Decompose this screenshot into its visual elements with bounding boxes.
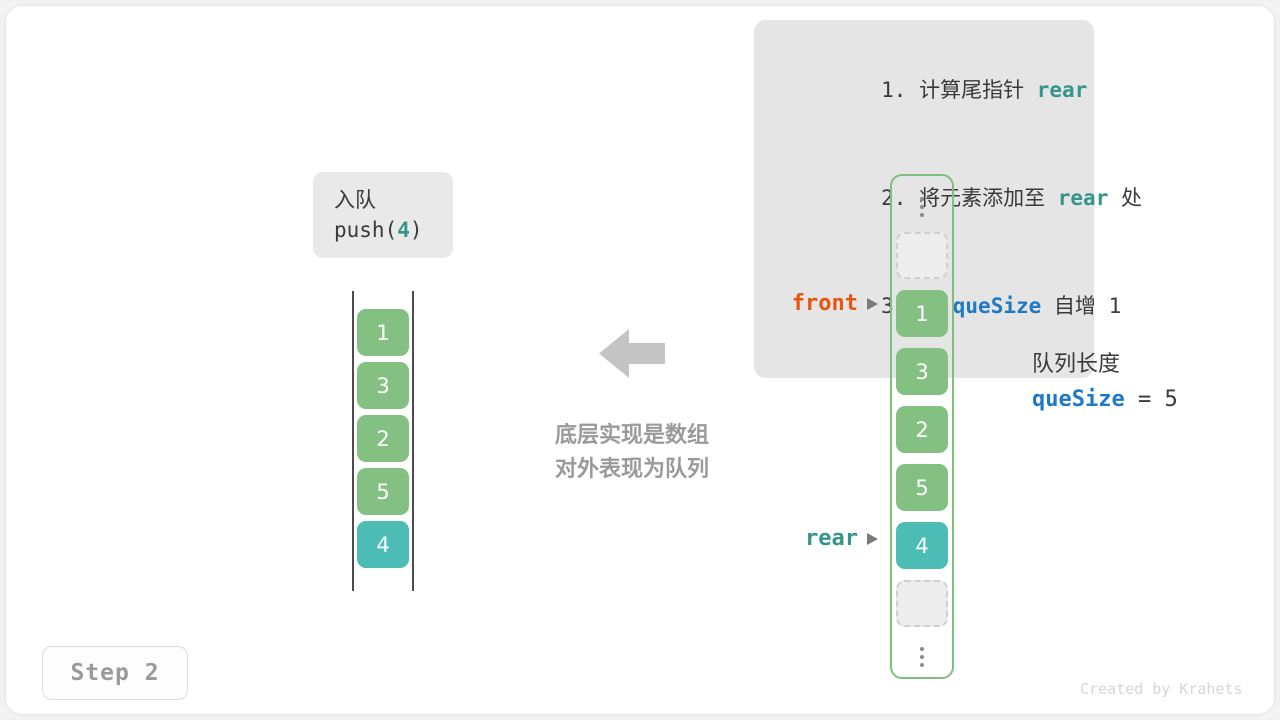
instruction-3-keyword: queSize: [953, 294, 1042, 318]
ellipsis-dot: [920, 197, 924, 201]
vertical-ellipsis-icon-bottom: [896, 638, 948, 676]
ellipsis-dot: [920, 647, 924, 651]
queue-rail-right: [412, 291, 414, 591]
instruction-2-suffix: 处: [1108, 186, 1142, 210]
queue-cell: 1: [357, 309, 409, 356]
queue-size-title: 队列长度: [1032, 347, 1262, 382]
operation-title: 入队: [334, 185, 453, 215]
explanation-caption: 底层实现是数组 对外表现为队列: [534, 419, 730, 487]
queue-view: 1 3 2 5 4: [352, 291, 414, 591]
array-cell-new: 4: [896, 522, 948, 569]
queue-size-equals: =: [1125, 387, 1165, 412]
queue-size-note: 队列长度 queSize = 5: [1032, 347, 1262, 417]
queue-cell: 3: [357, 362, 409, 409]
diagram-card: 1. 计算尾指针 rear 2. 将元素添加至 rear 处 3. 将 queS…: [6, 6, 1274, 714]
queue-cell: 2: [357, 415, 409, 462]
queue-cell-list: 1 3 2 5 4: [357, 309, 409, 568]
pointer-rear-label: rear: [805, 526, 858, 551]
operation-call-prefix: push(: [334, 218, 397, 242]
caption-line-1: 底层实现是数组: [534, 419, 730, 453]
ellipsis-dot: [920, 655, 924, 659]
array-cell: 5: [896, 464, 948, 511]
queue-cell-new: 4: [357, 521, 409, 568]
diagram-canvas: 1. 计算尾指针 rear 2. 将元素添加至 rear 处 3. 将 queS…: [0, 0, 1280, 720]
array-cell-empty: [896, 232, 948, 279]
instruction-1-number: 1.: [881, 78, 906, 102]
credit-text: Created by Krahets: [1080, 680, 1243, 698]
array-cell: 3: [896, 348, 948, 395]
instruction-1-prefix: 计算尾指针: [919, 78, 1037, 102]
queue-cell: 5: [357, 468, 409, 515]
pointer-arrow-icon: [867, 298, 878, 310]
instruction-line-1: 1. 计算尾指针 rear: [754, 36, 1094, 144]
operation-call-value: 4: [397, 218, 410, 242]
caption-line-2: 对外表现为队列: [534, 453, 730, 487]
operation-call-suffix: ): [410, 218, 423, 242]
ellipsis-dot: [920, 213, 924, 217]
queue-size-expression: queSize = 5: [1032, 382, 1262, 417]
queue-size-value: 5: [1164, 387, 1177, 412]
instruction-2-keyword: rear: [1058, 186, 1109, 210]
array-view: 1 3 2 5 4: [890, 174, 954, 679]
instruction-1-keyword: rear: [1037, 78, 1088, 102]
pointer-arrow-icon: [867, 533, 878, 545]
array-cell-empty: [896, 580, 948, 627]
pointer-rear: rear: [706, 526, 878, 551]
pointer-front-label: front: [792, 291, 858, 316]
array-cell: 1: [896, 290, 948, 337]
operation-call: push(4): [334, 215, 453, 245]
array-cell: 2: [896, 406, 948, 453]
queue-size-var: queSize: [1032, 387, 1125, 412]
queue-rail-left: [352, 291, 354, 591]
ellipsis-dot: [920, 205, 924, 209]
ellipsis-dot: [920, 663, 924, 667]
instruction-3-suffix: 自增 1: [1041, 294, 1121, 318]
step-badge: Step 2: [42, 646, 188, 700]
pointer-front: front: [706, 291, 878, 316]
left-arrow-icon: [599, 326, 665, 381]
operation-box: 入队 push(4): [313, 172, 453, 258]
vertical-ellipsis-icon-top: [896, 188, 948, 226]
